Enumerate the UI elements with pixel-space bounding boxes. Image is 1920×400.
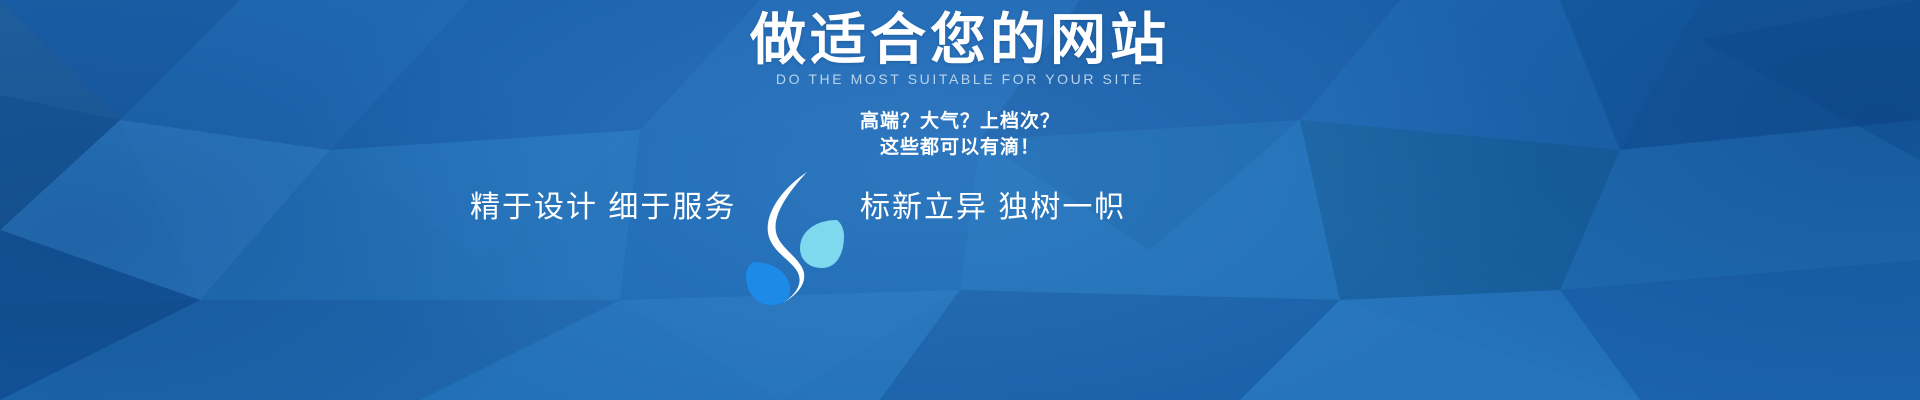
- page-title: 做适合您的网站: [0, 8, 1920, 72]
- leaf-sprout-logo: [745, 170, 845, 305]
- banner-content: 做适合您的网站 DO THE MOST SUITABLE FOR YOUR SI…: [0, 0, 1920, 400]
- question-line-two: 这些都可以有滴！: [0, 132, 1920, 159]
- page-subtitle: DO THE MOST SUITABLE FOR YOUR SITE: [0, 71, 1920, 87]
- question-line-one: 高端？大气？上档次？: [0, 106, 1920, 133]
- hero-banner: 做适合您的网站 DO THE MOST SUITABLE FOR YOUR SI…: [0, 0, 1920, 400]
- slogan-right: 标新立异 独树一帜: [860, 182, 1126, 226]
- leaf-sprout-logo-icon: [745, 170, 845, 305]
- slogan-left: 精于设计 细于服务: [470, 182, 736, 226]
